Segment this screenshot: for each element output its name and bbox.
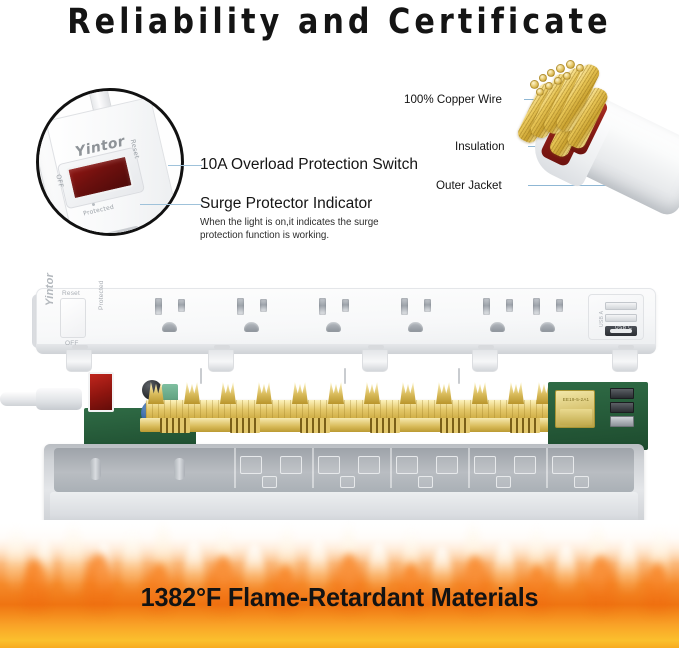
outlet-slot-neutral — [483, 298, 490, 315]
contact-clip-10 — [472, 382, 488, 404]
strip-reset-label: Reset — [62, 290, 80, 297]
ac-outlet-1[interactable] — [150, 298, 196, 338]
outlet-ground-hole — [408, 322, 423, 332]
foot-slot — [72, 345, 88, 349]
copper-strand-tip-6 — [576, 64, 584, 72]
base-small-well-2 — [340, 476, 355, 488]
contact-clip-7 — [364, 382, 380, 404]
internal-overload-switch — [88, 372, 114, 412]
base-outlet-well-3 — [318, 456, 340, 474]
base-outlet-well-4 — [358, 456, 380, 474]
internal-usb-a-housing-2 — [610, 402, 634, 413]
contact-clip-8 — [400, 382, 416, 404]
outlet-slot-neutral — [401, 298, 408, 315]
strip-overload-switch[interactable] — [60, 298, 86, 338]
outlet-contact-block-5 — [440, 418, 470, 433]
outlet-slot-neutral — [533, 298, 540, 315]
copper-strand-tip-9 — [554, 77, 562, 85]
outlet-ground-hole — [490, 322, 505, 332]
copper-strand-tip-4 — [556, 64, 565, 73]
base-small-well-3 — [418, 476, 433, 488]
copper-strand-tip-2 — [539, 74, 547, 82]
base-screw-post-2 — [174, 458, 185, 480]
contact-clip-9 — [436, 382, 452, 404]
base-outlet-well-1 — [240, 456, 262, 474]
outlet-slot-hot — [556, 299, 563, 312]
base-outlet-well-7 — [474, 456, 496, 474]
outlet-contact-block-1 — [160, 418, 190, 433]
contact-clip-11 — [508, 382, 524, 404]
strip-foot-1 — [66, 350, 92, 372]
usb-a-port-1[interactable] — [605, 302, 637, 310]
strip-protected-label: Protected — [98, 280, 105, 310]
strip-foot-pin-3 — [458, 368, 460, 384]
base-rib-5 — [546, 448, 548, 488]
outlet-ground-hole — [244, 322, 259, 332]
foot-slot — [478, 345, 494, 349]
copper-strand-tip-10 — [563, 72, 571, 80]
ac-outlet-2[interactable] — [232, 298, 278, 338]
strip-foot-pin-2 — [344, 368, 346, 384]
outlet-slot-neutral — [155, 298, 162, 315]
flame-banner: 1382°F Flame-Retardant Materials — [0, 520, 679, 648]
usb-transformer: EE19-5-2A1 — [555, 390, 595, 428]
base-screw-post-1 — [90, 458, 101, 480]
base-outlet-well-9 — [552, 456, 574, 474]
outlet-ground-hole — [326, 322, 341, 332]
transformer-label: EE19-5-2A1 — [558, 397, 594, 402]
callout-outer-jacket-label: Outer Jacket — [436, 179, 502, 192]
outlet-contact-block-4 — [370, 418, 400, 433]
outlet-slot-hot — [342, 299, 349, 312]
base-outlet-well-2 — [280, 456, 302, 474]
base-small-well-1 — [262, 476, 277, 488]
copper-strand-tip-5 — [566, 60, 575, 69]
callout-insulation-label: Insulation — [455, 140, 505, 153]
magnifier-content: Yintor Reset OFF Protected — [39, 91, 181, 233]
callout-surge-indicator-subtitle: When the light is on,it indicates the su… — [200, 216, 415, 242]
callout-copper-wire-label: 100% Copper Wire — [404, 93, 502, 106]
outlet-slot-hot — [424, 299, 431, 312]
callout-surge-indicator-title: Surge Protector Indicator — [200, 195, 372, 213]
outlet-slot-hot — [506, 299, 513, 312]
base-rib-3 — [390, 448, 392, 488]
contact-clip-3 — [220, 382, 236, 404]
usb-port-panel[interactable]: USB A USB C — [588, 294, 644, 340]
strip-front-bevel — [36, 344, 656, 354]
ac-outlet-6[interactable] — [528, 298, 574, 338]
strip-foot-2 — [208, 350, 234, 372]
cable-cutaway-illustration — [520, 60, 679, 220]
ac-outlet-3[interactable] — [314, 298, 360, 338]
contact-clip-2 — [184, 382, 200, 404]
base-rib-4 — [468, 448, 470, 488]
base-small-well-4 — [496, 476, 511, 488]
base-outlet-well-8 — [514, 456, 536, 474]
outlet-slot-neutral — [237, 298, 244, 315]
foot-slot — [214, 345, 230, 349]
outlet-slot-hot — [178, 299, 185, 312]
strip-foot-4 — [472, 350, 498, 372]
outlet-contact-block-3 — [300, 418, 330, 433]
outlet-slot-hot — [260, 299, 267, 312]
contact-clip-4 — [256, 382, 272, 404]
base-small-well-5 — [574, 476, 589, 488]
usb-a-port-2[interactable] — [605, 314, 637, 322]
power-strip-top-view: Yintor Reset OFF Protected — [32, 284, 662, 374]
flame-banner-text: 1382°F Flame-Retardant Materials — [10, 582, 669, 613]
usb-c-label: USB C — [615, 325, 632, 331]
internal-usb-a-housing-1 — [610, 388, 634, 399]
copper-strand-tip-7 — [536, 88, 544, 96]
outlet-ground-hole — [540, 322, 555, 332]
foot-slot — [368, 345, 384, 349]
outlet-slot-neutral — [319, 298, 326, 315]
leader-line-surge — [140, 204, 202, 205]
cord-strain-relief — [36, 388, 82, 410]
copper-strand-tip-8 — [545, 82, 553, 90]
strip-brand-logo: Yintor — [44, 273, 56, 306]
infographic-canvas: Reliability and Certificate Yintor Reset… — [0, 0, 679, 648]
foot-slot — [618, 345, 634, 349]
base-outlet-well-5 — [396, 456, 418, 474]
outlet-contact-block-6 — [510, 418, 540, 433]
callout-overload-protection-title: 10A Overload Protection Switch — [200, 156, 418, 174]
ac-outlet-5[interactable] — [478, 298, 524, 338]
leader-line-overload — [168, 165, 202, 166]
outlet-ground-hole — [162, 322, 177, 332]
base-rib-1 — [234, 448, 236, 488]
magnifier-circle: Yintor Reset OFF Protected — [36, 88, 184, 236]
transformer-coil — [560, 409, 592, 425]
base-rib-2 — [312, 448, 314, 488]
strip-foot-3 — [362, 350, 388, 372]
strip-foot-pin-1 — [200, 368, 202, 384]
copper-strand-tip-3 — [547, 69, 555, 77]
brass-bus-bar-lower — [140, 418, 565, 432]
internal-usb-c-housing — [610, 416, 634, 427]
base-outlet-well-6 — [436, 456, 458, 474]
contact-clip-5 — [292, 382, 308, 404]
contact-clip-6 — [328, 382, 344, 404]
strip-foot-5 — [612, 350, 638, 372]
page-title: Reliability and Certificate — [14, 2, 666, 42]
ac-outlet-4[interactable] — [396, 298, 442, 338]
outlet-contact-block-2 — [230, 418, 260, 433]
